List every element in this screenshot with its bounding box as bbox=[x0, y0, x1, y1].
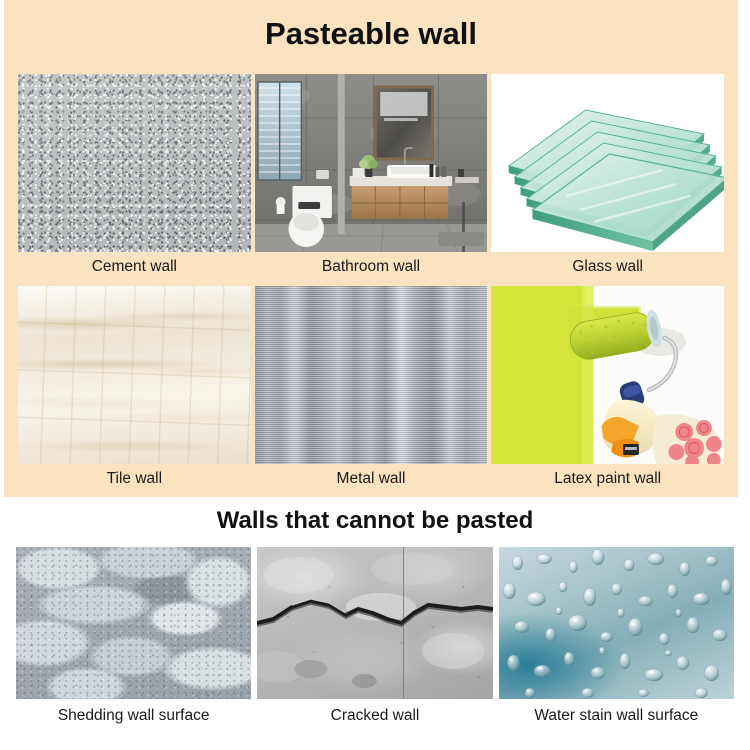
wall-card-metal: Metal wall bbox=[255, 286, 488, 498]
bathroom-scene-illustration bbox=[255, 74, 488, 252]
paint-roller-illustration bbox=[491, 286, 724, 464]
not-pasteable-section-title: Walls that cannot be pasted bbox=[0, 497, 750, 534]
wall-card-bathroom: Bathroom wall bbox=[255, 74, 488, 286]
wall-card-water-stain: Water stain wall surface bbox=[499, 547, 734, 725]
latex-paint-wall-photo bbox=[491, 286, 724, 464]
pasteable-section: Pasteable wall Cement wall bbox=[4, 0, 738, 497]
cracked-wall-photo bbox=[257, 547, 492, 699]
wall-card-latex-paint: Latex paint wall bbox=[491, 286, 724, 498]
shedding-wall-photo bbox=[16, 547, 251, 699]
wall-caption-metal: Metal wall bbox=[255, 464, 488, 498]
metal-wall-photo bbox=[255, 286, 488, 464]
wall-card-cement: Cement wall bbox=[18, 74, 251, 286]
not-pasteable-wall-grid: Shedding wall surface bbox=[0, 547, 750, 725]
wall-caption-cement: Cement wall bbox=[18, 252, 251, 286]
wall-caption-tile: Tile wall bbox=[18, 464, 251, 498]
wall-caption-glass: Glass wall bbox=[491, 252, 724, 286]
crack-illustration bbox=[257, 547, 492, 699]
glass-wall-photo bbox=[491, 74, 724, 252]
wall-card-cracked: Cracked wall bbox=[257, 547, 492, 725]
glass-panes-illustration bbox=[491, 74, 724, 252]
wall-card-shedding: Shedding wall surface bbox=[16, 547, 251, 725]
cement-wall-photo bbox=[18, 74, 251, 252]
wall-card-tile: Tile wall bbox=[18, 286, 251, 498]
wall-caption-bathroom: Bathroom wall bbox=[255, 252, 488, 286]
wall-caption-shedding: Shedding wall surface bbox=[16, 699, 251, 725]
wall-caption-latex-paint: Latex paint wall bbox=[491, 464, 724, 498]
water-droplets-illustration bbox=[499, 547, 734, 699]
wall-caption-water-stain: Water stain wall surface bbox=[499, 699, 734, 725]
not-pasteable-section: Walls that cannot be pasted Shedding wal… bbox=[0, 497, 750, 750]
pasteable-wall-grid: Cement wall bbox=[4, 74, 738, 497]
water-stain-wall-photo bbox=[499, 547, 734, 699]
tile-wall-photo bbox=[18, 286, 251, 464]
bathroom-wall-photo bbox=[255, 74, 488, 252]
pasteable-section-title: Pasteable wall bbox=[4, 0, 738, 51]
product-infographic: Pasteable wall Cement wall bbox=[0, 0, 750, 750]
wall-caption-cracked: Cracked wall bbox=[257, 699, 492, 725]
wall-card-glass: Glass wall bbox=[491, 74, 724, 286]
